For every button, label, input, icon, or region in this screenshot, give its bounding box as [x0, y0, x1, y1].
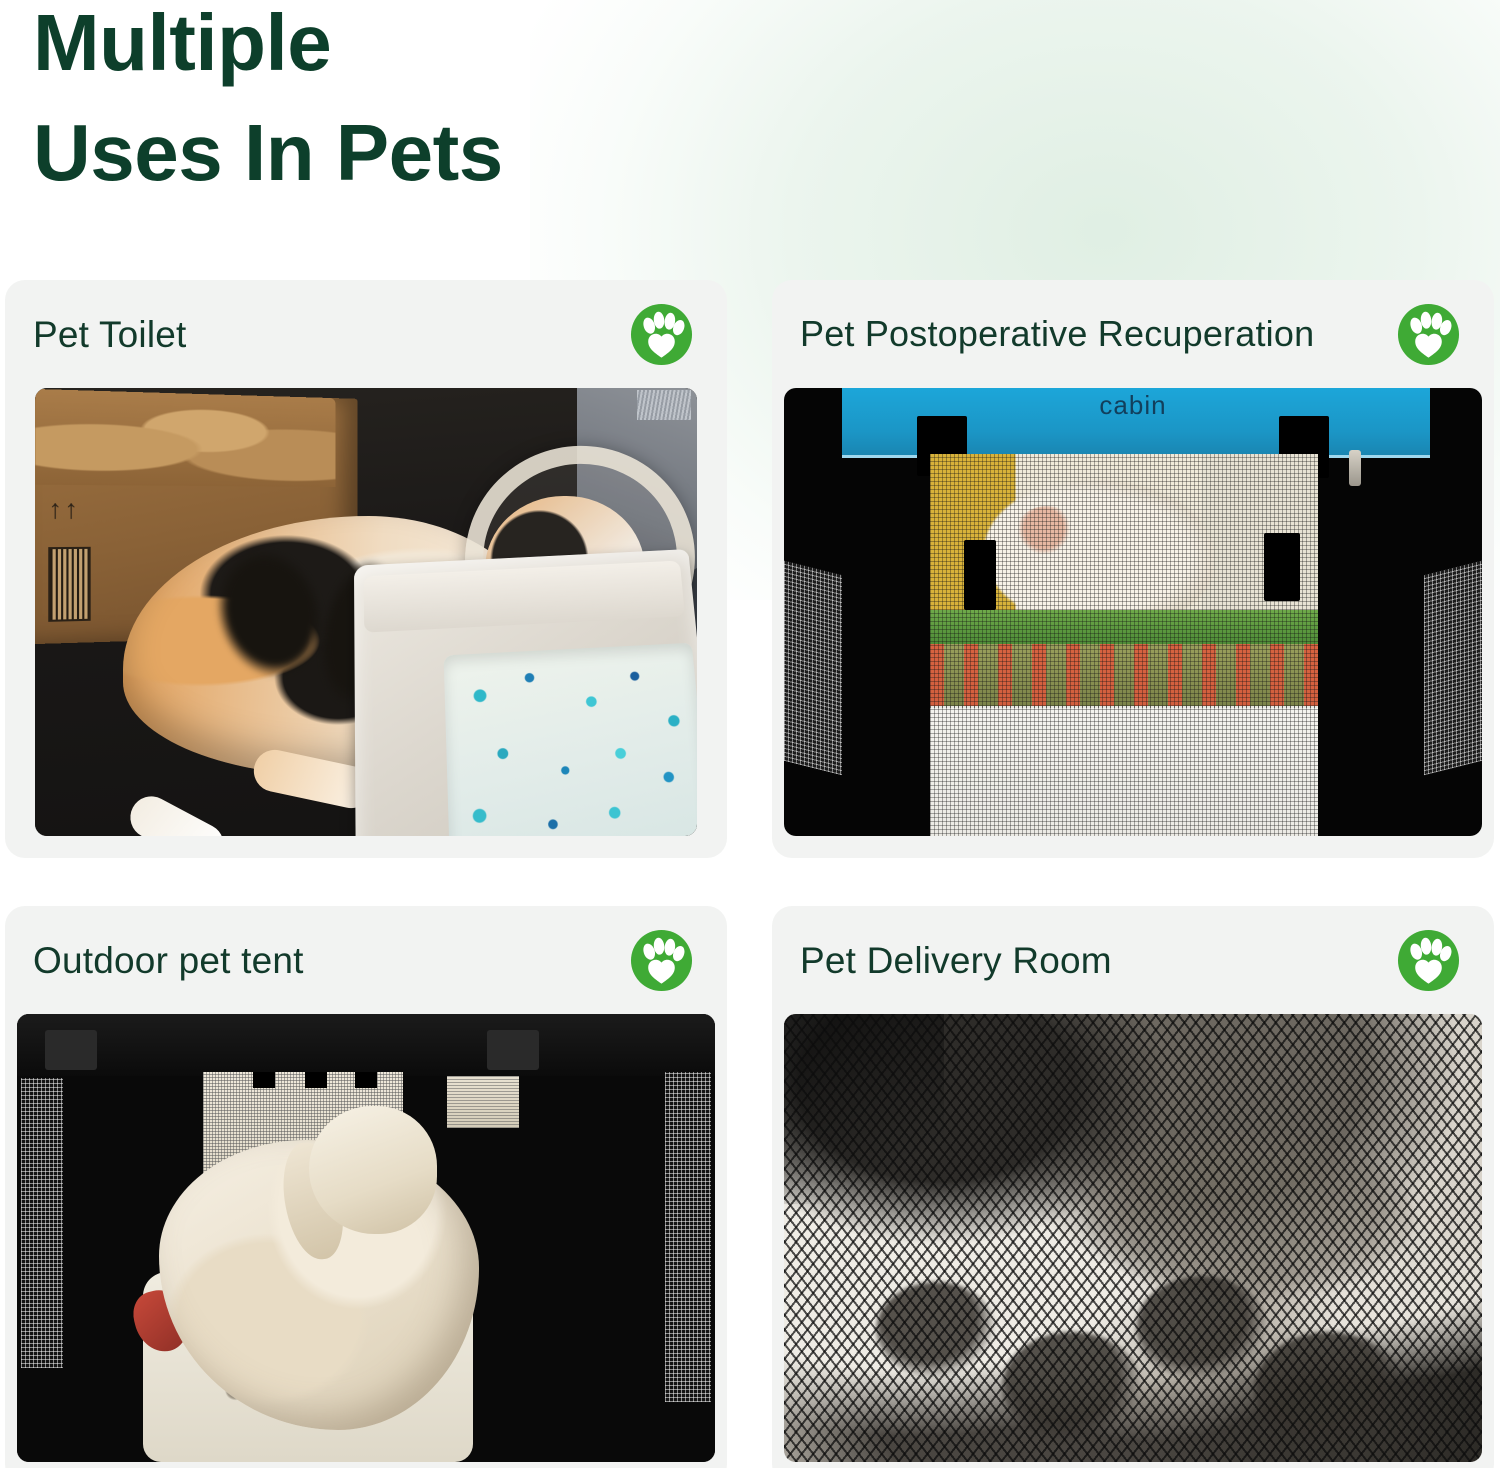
photo-tent-top — [17, 1014, 715, 1076]
photo-mesh-net — [784, 1014, 1482, 1462]
paw-print-icon — [630, 303, 693, 366]
page-title-line-2: Uses In Pets — [33, 112, 853, 194]
photo-box-contents — [35, 389, 335, 487]
feature-card-pet-delivery-room[interactable]: Pet Delivery Room — [772, 906, 1494, 1468]
card-title: Pet Toilet — [33, 316, 187, 353]
card-header: Pet Postoperative Recuperation — [772, 280, 1494, 388]
feature-card-outdoor-pet-tent[interactable]: Outdoor pet tent — [5, 906, 727, 1468]
photo-tent-hanger — [487, 1030, 539, 1070]
card-title: Outdoor pet tent — [33, 942, 304, 979]
photo-panel-tab — [355, 1072, 377, 1088]
paw-print-icon — [630, 929, 693, 992]
photo-mesh-overlay — [930, 454, 1318, 836]
card-photo: cabin — [784, 388, 1482, 836]
photo-side-mesh — [784, 561, 842, 775]
photo-strap — [964, 540, 996, 610]
paw-print-icon — [1397, 929, 1460, 992]
card-title: Pet Delivery Room — [800, 942, 1112, 979]
card-photo — [784, 1014, 1482, 1462]
photo-small-mesh-panel — [447, 1076, 519, 1128]
photo-dog-head — [309, 1106, 437, 1234]
photo-brand-text: cabin — [784, 390, 1482, 421]
feature-card-pet-toilet[interactable]: Pet Toilet ↑↑ — [5, 280, 727, 858]
photo-panel-tab — [305, 1072, 327, 1088]
page-title: Multiple Uses In Pets — [33, 2, 853, 193]
photo-box-barcode — [48, 547, 90, 622]
card-header: Pet Delivery Room — [772, 906, 1494, 1014]
photo-side-mesh — [665, 1072, 711, 1402]
photo-vent — [637, 390, 691, 420]
photo-panel-tab — [253, 1072, 275, 1088]
card-title: Pet Postoperative Recuperation — [800, 316, 1314, 352]
card-header: Pet Toilet — [5, 280, 727, 388]
photo-zipper-pull — [1349, 450, 1361, 486]
photo-litter-tray — [354, 549, 697, 836]
photo-strap — [1264, 533, 1300, 601]
card-photo — [17, 1014, 715, 1462]
photo-side-mesh — [21, 1078, 63, 1368]
paw-print-icon — [1397, 303, 1460, 366]
card-header: Outdoor pet tent — [5, 906, 727, 1014]
photo-crystal-litter — [444, 643, 697, 836]
page-title-line-1: Multiple — [33, 2, 853, 84]
photo-box-label: ↑↑ — [48, 493, 97, 626]
feature-card-grid: Pet Toilet ↑↑ — [5, 280, 1497, 1468]
photo-tray-rim — [364, 560, 685, 632]
feature-card-pet-postoperative-recuperation[interactable]: Pet Postoperative Recuperation cabin — [772, 280, 1494, 858]
card-photo: ↑↑ — [35, 388, 697, 836]
photo-box-arrows: ↑↑ — [48, 493, 80, 525]
photo-side-mesh — [1424, 561, 1482, 775]
photo-tent-hanger — [45, 1030, 97, 1070]
page-root: Multiple Uses In Pets Pet Toilet — [0, 0, 1500, 1468]
